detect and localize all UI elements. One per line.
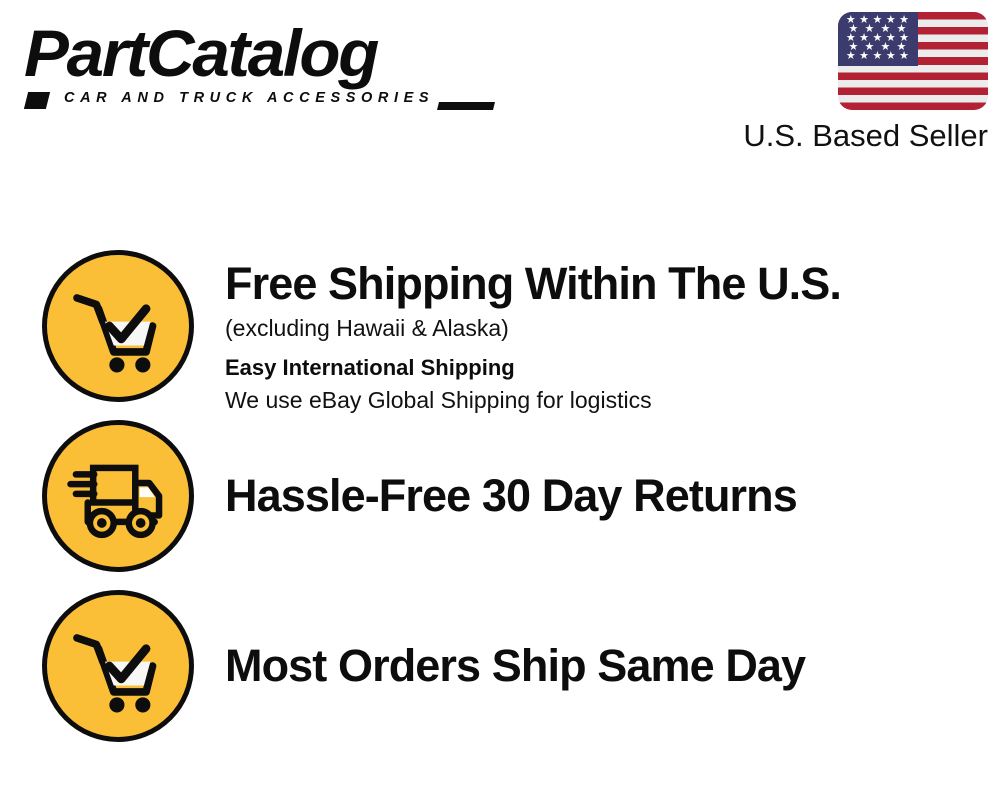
us-flag-icon: ★★★★★★★★★★★★★★★★★★★★★★★ <box>838 12 988 110</box>
page-header: PartCatalog CAR AND TRUCK ACCESSORIES ★★… <box>0 0 1000 170</box>
flag-star-icon: ★ <box>859 51 869 62</box>
feature-row: Hassle-Free 30 Day Returns <box>0 420 1000 592</box>
feature-subtitle-secondary: We use eBay Global Shipping for logistic… <box>225 384 985 416</box>
feature-row: Free Shipping Within The U.S. (excluding… <box>0 250 1000 422</box>
us-based-seller-label: U.S. Based Seller <box>722 118 988 154</box>
feature-row: Most Orders Ship Same Day <box>0 590 1000 762</box>
flag-star-icon: ★ <box>873 51 883 62</box>
shopping-cart-check-icon <box>42 590 194 742</box>
feature-list: Free Shipping Within The U.S. (excluding… <box>0 170 1000 800</box>
shopping-cart-check-icon <box>42 250 194 402</box>
flag-star-icon: ★ <box>899 51 909 62</box>
feature-subtitle-strong: Easy International Shipping <box>225 352 985 384</box>
feature-text-block: Free Shipping Within The U.S. (excluding… <box>225 258 985 416</box>
flag-star-icon: ★ <box>846 51 856 62</box>
feature-title: Hassle-Free 30 Day Returns <box>225 470 985 522</box>
feature-title: Most Orders Ship Same Day <box>225 640 985 692</box>
logo-right-slash-icon <box>437 102 495 110</box>
feature-text-block: Most Orders Ship Same Day <box>225 640 985 692</box>
feature-subtitle: (excluding Hawaii & Alaska) <box>225 312 985 344</box>
brand-tagline: CAR AND TRUCK ACCESSORIES <box>64 90 434 106</box>
brand-tagline-row: CAR AND TRUCK ACCESSORIES <box>26 90 492 114</box>
partcatalog-logo[interactable]: PartCatalog CAR AND TRUCK ACCESSORIES <box>24 18 494 118</box>
feature-title: Free Shipping Within The U.S. <box>225 258 985 310</box>
flag-stars: ★★★★★★★★★★★★★★★★★★★★★★★ <box>838 12 988 110</box>
feature-text-block: Hassle-Free 30 Day Returns <box>225 470 985 522</box>
logo-left-slash-icon <box>24 92 50 109</box>
brand-wordmark: PartCatalog <box>24 18 503 88</box>
delivery-truck-icon <box>42 420 194 572</box>
flag-star-icon: ★ <box>886 51 896 62</box>
